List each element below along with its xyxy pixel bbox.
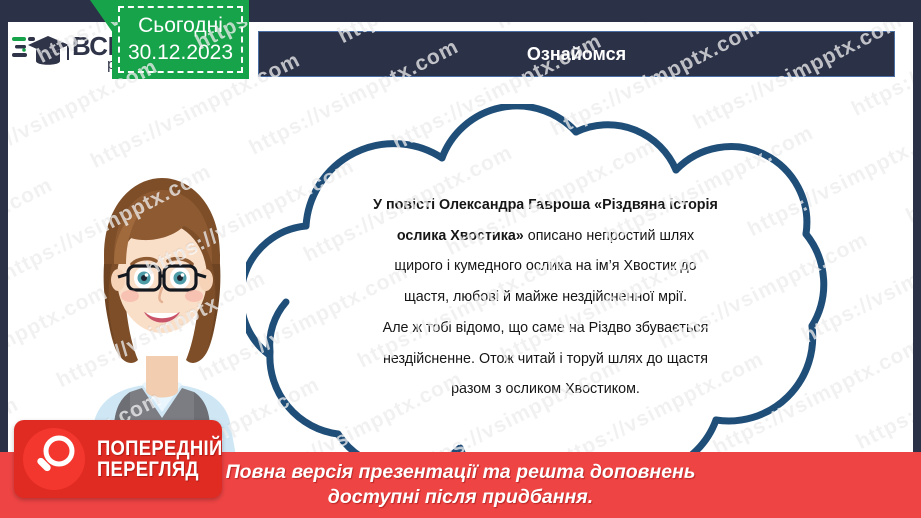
- preview-badge-line-1: ПОПЕРЕДНІЙ: [97, 438, 222, 459]
- page-title: Ознайомся: [527, 44, 626, 65]
- date-badge: Сьогодні 30.12.2023: [112, 0, 249, 79]
- cloud-line-7: разом з осликом Хвостиком.: [323, 374, 768, 405]
- cloud-paragraph: У повісті Олександра Гавроша «Різдвяна і…: [323, 190, 768, 405]
- slide-title-bar: Ознайомся: [258, 31, 895, 77]
- cloud-line-6: нездійсненне. Отож читай і торуй шлях до…: [323, 344, 768, 375]
- preview-badge-line-2: ПЕРЕГЛЯД: [97, 459, 222, 480]
- cloud-line-4: щастя, любові й майже нездійсненної мрії…: [323, 282, 768, 313]
- date-badge-label: Сьогодні: [138, 13, 223, 39]
- cloud-line-1: У повісті Олександра Гавроша «Різдвяна і…: [323, 190, 768, 221]
- cloud-line-3: щирого і кумедного ослика на ім’я Хвости…: [323, 251, 768, 282]
- cloud-line-2: ослика Хвостика» описано непростий шлях: [323, 221, 768, 252]
- date-badge-date: 30.12.2023: [128, 40, 233, 66]
- preview-badge[interactable]: ПОПЕРЕДНІЙ ПЕРЕГЛЯД: [14, 420, 222, 498]
- presentation-slide: У повісті Олександра Гавроша «Різдвяна і…: [0, 0, 921, 518]
- banner-line-1: Повна версія презентації та решта доповн…: [226, 460, 696, 485]
- graduation-cap-icon: [12, 30, 70, 74]
- magnifier-icon: [23, 428, 85, 490]
- preview-badge-label: ПОПЕРЕДНІЙ ПЕРЕГЛЯД: [97, 438, 222, 481]
- cloud-line-5: Але ж тобі відомо, що саме на Різдво збу…: [323, 313, 768, 344]
- banner-line-2: доступні після придбання.: [328, 485, 593, 510]
